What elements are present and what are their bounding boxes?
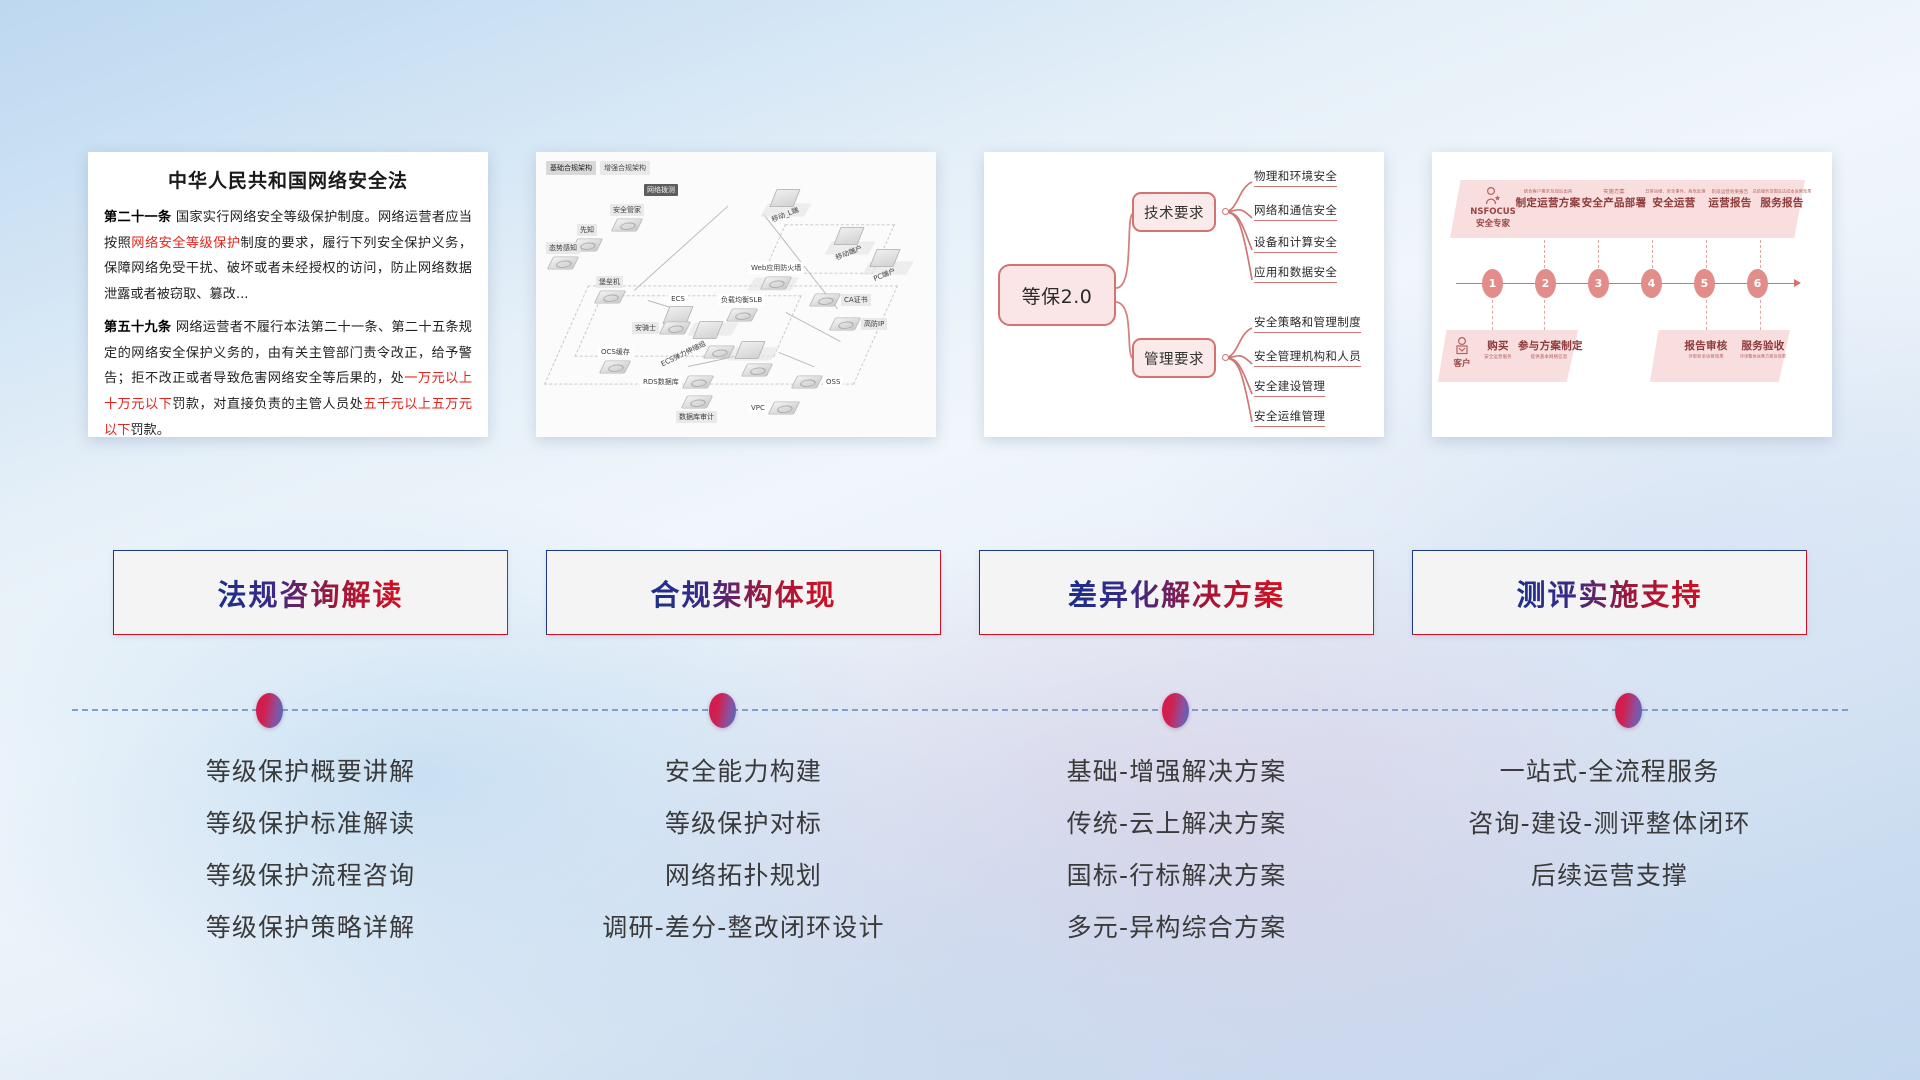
pillar-item: 安全能力构建 (665, 752, 822, 788)
arch-label: ECS (668, 294, 688, 304)
server-icon (682, 375, 714, 388)
arch-node-bastion-host: 堡垒机 (596, 276, 623, 305)
arch-node-situational-awareness: 态势感知 (546, 242, 580, 271)
arch-label: OSS (823, 377, 843, 387)
server-icon (593, 290, 625, 303)
pillar-title-box-3[interactable]: 差异化解决方案 (979, 550, 1374, 635)
process-connector (1544, 240, 1545, 268)
mindmap-leaf: 安全管理机构和人员 (1254, 348, 1361, 367)
server-icon (809, 293, 841, 306)
pillar-item: 基础-增强解决方案 (1067, 752, 1287, 788)
arch-label: 态势感知 (546, 242, 580, 254)
process-connector (1652, 240, 1653, 268)
arch-node-network-probe: 网络拨测 (644, 184, 678, 196)
tab-enhanced-architecture[interactable]: 增强合规架构 (600, 161, 650, 175)
step-subtitle: 评审安全运营效果 (1683, 354, 1729, 360)
architecture-tabs[interactable]: 基础合规架构 增强合规架构 (546, 161, 650, 175)
arch-node-ocs-cache: OCS缓存 (598, 346, 633, 375)
process-axis-line (1456, 283, 1796, 284)
arch-node-slb: 负载均衡SLB (718, 294, 765, 323)
pillar-title-label: 法规咨询解读 (217, 572, 403, 614)
pillar-item: 等级保护流程咨询 (206, 856, 416, 892)
process-step-top-1: 结合客户需求及现后出具 制定运营方案 (1512, 188, 1584, 210)
server-icon (659, 321, 691, 334)
process-connector (1760, 240, 1761, 268)
arch-label: PC端户 (869, 264, 900, 286)
card-nsfocus-process[interactable]: NSFOCUS 安全专家 结合客户需求及现后出具 制定运营方案 实施方案 安全产… (1432, 152, 1832, 437)
server-icon (547, 256, 579, 269)
pillar-column-2: 安全能力构建 等级保护对标 网络拓扑规划 调研-差分-整改闭环设计 (546, 740, 941, 944)
arch-label: 数据库审计 (676, 411, 717, 423)
arch-label: 堡垒机 (596, 276, 623, 288)
pillar-column-4: 一站式-全流程服务 咨询-建设-测评整体闭环 后续运营支撑 (1412, 740, 1807, 944)
process-step-bottom-4: 服务验收 评审整体运营方案及效果 (1732, 338, 1794, 360)
mindmap-leaf: 设备和计算安全 (1254, 234, 1337, 253)
timeline (0, 690, 1920, 730)
step-subtitle: 总结服务范围及达成本运营效果 (1752, 189, 1811, 194)
process-node-3: 3 (1588, 269, 1609, 298)
mindmap-node-dot (1222, 354, 1229, 361)
arch-node-mobile-l: 移动_L端 (768, 188, 802, 221)
step-title: 报告审核 (1678, 338, 1734, 353)
arch-label: OCS缓存 (598, 346, 633, 358)
slide-canvas: 中华人民共和国网络安全法 第二十一条 国家实行网络安全等级保护制度。网络运营者应… (0, 0, 1920, 1080)
arch-node-database-audit: 数据库审计 (676, 394, 717, 423)
pillar-item: 后续运营支撑 (1531, 856, 1688, 892)
arch-node-oss: OSS (794, 374, 843, 390)
step-subtitle: 结合客户需求及现后出具 (1518, 189, 1577, 195)
server-icon (611, 218, 643, 231)
arch-node-compute-2 (706, 344, 732, 360)
pillar-title-box-2[interactable]: 合规架构体现 (546, 550, 941, 635)
pillar-title-box-1[interactable]: 法规咨询解读 (113, 550, 508, 635)
arch-label: RDS数据库 (640, 376, 682, 388)
pillar-item: 一站式-全流程服务 (1500, 752, 1720, 788)
mindmap-leaf: 网络和通信安全 (1254, 202, 1337, 221)
mindmap-node-dot (1222, 208, 1229, 215)
process-step-bottom-3: 报告审核 评审安全运营效果 (1678, 338, 1734, 360)
mindmap-branch-management: 管理要求 (1132, 338, 1216, 378)
step-subtitle: 提供基本网络信息 (1523, 354, 1576, 360)
process-connector (1706, 240, 1707, 268)
process-node-5: 5 (1694, 269, 1715, 298)
mindmap-branch-technical: 技术要求 (1132, 192, 1216, 232)
arch-label: 安全管家 (610, 204, 644, 216)
arch-connector (634, 206, 728, 291)
server-icon (741, 363, 773, 376)
arch-node-anti-ddos-ip: 高防IP (832, 316, 887, 332)
step-title: 参与方案制定 (1518, 338, 1580, 353)
tab-basic-architecture[interactable]: 基础合规架构 (546, 161, 596, 175)
pillar-item: 等级保护标准解读 (206, 804, 416, 840)
process-connector (1492, 300, 1493, 330)
arch-node-ca-certificate: CA证书 (812, 292, 871, 308)
pillar-title-label: 差异化解决方案 (1068, 572, 1285, 614)
step-title: 制定运营方案 (1512, 195, 1584, 210)
process-connector (1544, 300, 1545, 330)
mindmap-leaf: 安全建设管理 (1254, 378, 1325, 397)
arch-node-anqishi: 安骑士 (632, 320, 688, 336)
arch-node-security-butler: 安全管家 (610, 204, 644, 233)
card-dengbao-mindmap[interactable]: 等保2.0 技术要求 物理和环境安全 网络和通信安全 设备和计算安全 应用和数据… (984, 152, 1384, 437)
preview-cards-row: 中华人民共和国网络安全法 第二十一条 国家实行网络安全等级保护制度。网络运营者应… (0, 152, 1920, 452)
pillar-items-row: 等级保护概要讲解 等级保护标准解读 等级保护流程咨询 等级保护策略详解 安全能力… (0, 740, 1920, 944)
pillar-title-box-4[interactable]: 测评实施支持 (1412, 550, 1807, 635)
process-step-bottom-1: 购买 安全运营服务 (1474, 338, 1522, 360)
pillar-item: 多元-异构综合方案 (1067, 908, 1287, 944)
arch-node-pc-client: PC端户 (870, 248, 899, 281)
timeline-dot-1[interactable] (256, 693, 283, 728)
article-21-label: 第二十一条 (104, 210, 171, 225)
pillar-item: 调研-差分-整改闭环设计 (602, 908, 884, 944)
architecture-canvas: 网络拨测 安全管家 先知 态势感知 堡垒机 (536, 152, 936, 437)
article-59-text-2: 罚款，对直接负责的主管人员处 (172, 397, 363, 412)
law-title: 中华人民共和国网络安全法 (104, 166, 472, 193)
customer-person-icon (1453, 336, 1471, 356)
server-icon (791, 375, 823, 388)
server-icon (760, 276, 792, 289)
pillar-item: 等级保护概要讲解 (206, 752, 416, 788)
actor-label-line2: 安全专家 (1462, 217, 1524, 229)
arch-label: 高防IP (861, 318, 887, 330)
arch-label: CA证书 (841, 294, 871, 306)
arch-node-compute-4 (744, 362, 770, 378)
mindmap-leaf: 应用和数据安全 (1254, 264, 1337, 283)
pillar-item: 国标-行标解决方案 (1067, 856, 1287, 892)
pillar-titles-row: 法规咨询解读 合规架构体现 差异化解决方案 测评实施支持 (0, 550, 1920, 640)
arch-label: Web应用防火墙 (748, 262, 804, 274)
arch-node-compute-3 (738, 340, 762, 360)
arch-node-vpc: VPC (748, 400, 797, 416)
pillar-title-label: 合规架构体现 (650, 572, 836, 614)
step-subtitle: 评审整体运营方案及效果 (1739, 354, 1787, 359)
server-icon (680, 395, 712, 408)
step-title: 购买 (1474, 338, 1522, 353)
server-icon (734, 341, 765, 359)
step-title: 服务报告 (1744, 195, 1820, 210)
process-step-bottom-2: 参与方案制定 提供基本网络信息 (1518, 338, 1580, 360)
arch-label: 网络拨测 (644, 184, 678, 196)
pillar-column-3: 基础-增强解决方案 传统-云上解决方案 国标-行标解决方案 多元-异构综合方案 (979, 740, 1374, 944)
server-icon (599, 360, 631, 373)
article-59-label: 第五十九条 (104, 320, 171, 335)
process-node-2: 2 (1535, 269, 1556, 298)
mindmap-leaf: 物理和环境安全 (1254, 168, 1337, 187)
arch-label: 负载均衡SLB (718, 294, 765, 306)
timeline-dot-2[interactable] (709, 693, 736, 728)
arch-node-waf: Web应用防火墙 (748, 262, 804, 291)
article-59-text-3: 罚款。 (130, 423, 170, 437)
pillar-title-label: 测评实施支持 (1516, 572, 1702, 614)
mindmap-leaf: 安全运维管理 (1254, 408, 1325, 427)
step-subtitle: 安全运营服务 (1478, 354, 1519, 360)
process-axis-arrow (1794, 279, 1801, 287)
card-cybersecurity-law[interactable]: 中华人民共和国网络安全法 第二十一条 国家实行网络安全等级保护制度。网络运营者应… (88, 152, 488, 437)
process-connector (1706, 300, 1707, 330)
arch-node-rds-database: RDS数据库 (640, 374, 711, 390)
process-node-6: 6 (1747, 269, 1768, 298)
pillar-item: 等级保护对标 (665, 804, 822, 840)
card-cloud-architecture[interactable]: 基础合规架构 增强合规架构 (536, 152, 936, 437)
pillar-column-1: 等级保护概要讲解 等级保护标准解读 等级保护流程咨询 等级保护策略详解 (113, 740, 508, 944)
process-node-4: 4 (1641, 269, 1662, 298)
process-connector (1760, 300, 1761, 330)
step-title: 服务验收 (1732, 338, 1794, 353)
arch-label: 先知 (577, 224, 597, 236)
arch-node-compute-1 (696, 320, 720, 340)
arch-node-mobile-client: 移动端户 (832, 226, 866, 259)
arch-label: 安骑士 (632, 322, 659, 334)
timeline-dot-4[interactable] (1615, 693, 1642, 728)
process-node-1: 1 (1482, 269, 1503, 298)
server-icon (692, 321, 723, 339)
arch-label: VPC (748, 403, 768, 413)
server-icon (768, 401, 800, 414)
law-article-59: 第五十九条 网络运营者不履行本法第二十一条、第二十五条规定的网络安全保护义务的，… (104, 315, 472, 437)
mindmap-leaf: 安全策略和管理制度 (1254, 314, 1361, 333)
server-icon (725, 308, 757, 321)
process-connector (1598, 240, 1599, 268)
timeline-dot-3[interactable] (1162, 693, 1189, 728)
pillar-item: 网络拓扑规划 (665, 856, 822, 892)
pillar-item: 等级保护策略详解 (206, 908, 416, 944)
server-icon (829, 317, 861, 330)
expert-person-icon (1483, 186, 1503, 206)
pillar-item: 咨询-建设-测评整体闭环 (1468, 804, 1750, 840)
timeline-dashed-line (72, 709, 1848, 711)
article-21-highlight: 网络安全等级保护 (131, 236, 240, 251)
server-icon (703, 345, 735, 358)
process-step-top-5: 总结服务范围及达成本运营效果 服务报告 (1744, 188, 1820, 210)
pillar-item: 传统-云上解决方案 (1067, 804, 1287, 840)
law-article-21: 第二十一条 国家实行网络安全等级保护制度。网络运营者应当按照网络安全等级保护制度… (104, 205, 472, 308)
